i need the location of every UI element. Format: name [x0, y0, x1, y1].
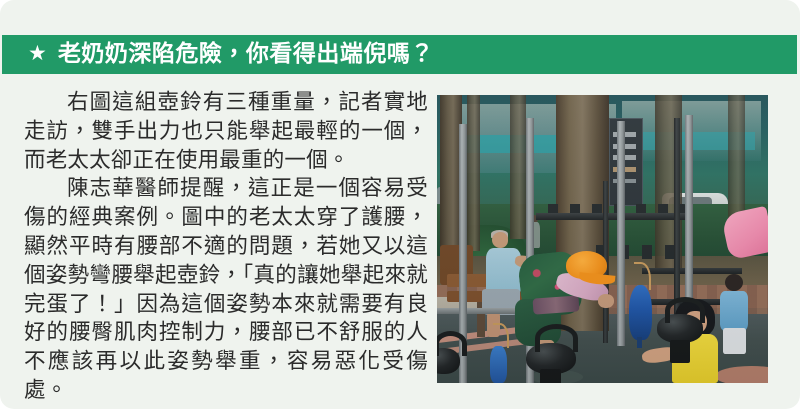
photo-kettlebell-center-handle	[535, 324, 578, 352]
photo-kettlebell-center-stem	[540, 369, 562, 383]
photo-boy-head	[725, 274, 743, 291]
photo-tree-c	[510, 95, 527, 239]
photo-pole-3	[617, 121, 625, 346]
photo-signboard	[609, 118, 642, 206]
photo-kettlebell-left-handle	[437, 331, 467, 356]
photo-elderly-woman-back-brace	[532, 295, 579, 314]
photo-small-umbrella-handle	[493, 323, 508, 348]
photo-tree-b	[467, 95, 480, 251]
photo-rail-top	[536, 213, 688, 220]
photo-tree-e	[728, 95, 745, 222]
photo-kettlebell-right-handle	[665, 297, 705, 324]
article-card: ★ 老奶奶深陷危險，你看得出端倪嗎？ 右圖這組壺鈴有三種重量，記者實地走訪，雙手…	[0, 0, 800, 409]
photo-canvas	[437, 95, 768, 383]
photo-elderly-woman-hand	[598, 294, 615, 308]
article-body: 右圖這組壺鈴有三種重量，記者實地走訪，雙手出力也只能舉起最輕的一個，而老太太卻正…	[24, 89, 428, 406]
photo-boy-shirt	[720, 291, 748, 331]
photo-blue-umbrella	[629, 285, 652, 340]
park-exercise-photo	[437, 95, 768, 383]
article-paragraph-1: 右圖這組壺鈴有三種重量，記者實地走訪，雙手出力也只能舉起最輕的一個，而老太太卻正…	[24, 89, 428, 175]
photo-man-head	[492, 232, 509, 248]
photo-kettlebell-right-stem	[670, 340, 690, 363]
article-paragraph-2: 陳志華醫師提醒，這正是一個容易受傷的經典案例。圖中的老太太穿了護腰，顯然平時有腰…	[24, 175, 428, 405]
photo-boy-legs	[723, 328, 746, 354]
star-icon: ★	[28, 43, 47, 64]
photo-man-tank-top	[486, 248, 521, 294]
photo-small-umbrella	[490, 346, 507, 383]
page-title: 老奶奶深陷危險，你看得出端倪嗎？	[58, 43, 434, 66]
photo-umbrella-tip	[637, 337, 642, 349]
header-bar: ★ 老奶奶深陷危險，你看得出端倪嗎？	[2, 35, 797, 74]
